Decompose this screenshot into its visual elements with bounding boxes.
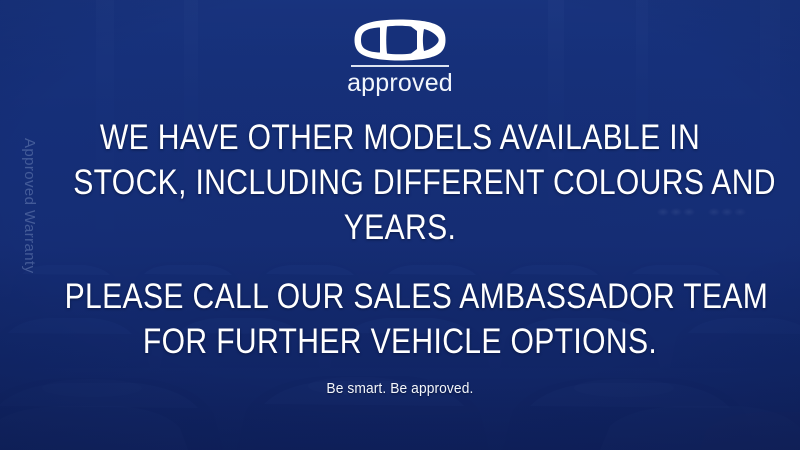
- car-top-view-icon: [354, 18, 446, 62]
- banner-content: approved WE HAVE OTHER MODELS AVAILABLE …: [0, 0, 800, 450]
- headline-paragraph-1: WE HAVE OTHER MODELS AVAILABLE IN STOCK,…: [73, 115, 727, 250]
- headline-line: WE HAVE OTHER MODELS AVAILABLE IN: [73, 115, 727, 160]
- promo-banner: Approved Warranty approved WE HAVE OTHER: [0, 0, 800, 450]
- headline-line: PLEASE CALL OUR SALES AMBASSADOR TEAM: [65, 274, 736, 319]
- brand-tagline: Be smart. Be approved.: [327, 380, 474, 398]
- logo-divider-rule: [351, 65, 449, 67]
- headline-line: YEARS.: [73, 205, 727, 250]
- logo-wordmark: approved: [347, 71, 453, 96]
- approved-logo: approved: [347, 18, 453, 96]
- headline-paragraph-2: PLEASE CALL OUR SALES AMBASSADOR TEAM FO…: [65, 274, 736, 364]
- headline-line: STOCK, INCLUDING DIFFERENT COLOURS AND: [73, 160, 727, 205]
- headline-line: FOR FURTHER VEHICLE OPTIONS.: [65, 319, 736, 364]
